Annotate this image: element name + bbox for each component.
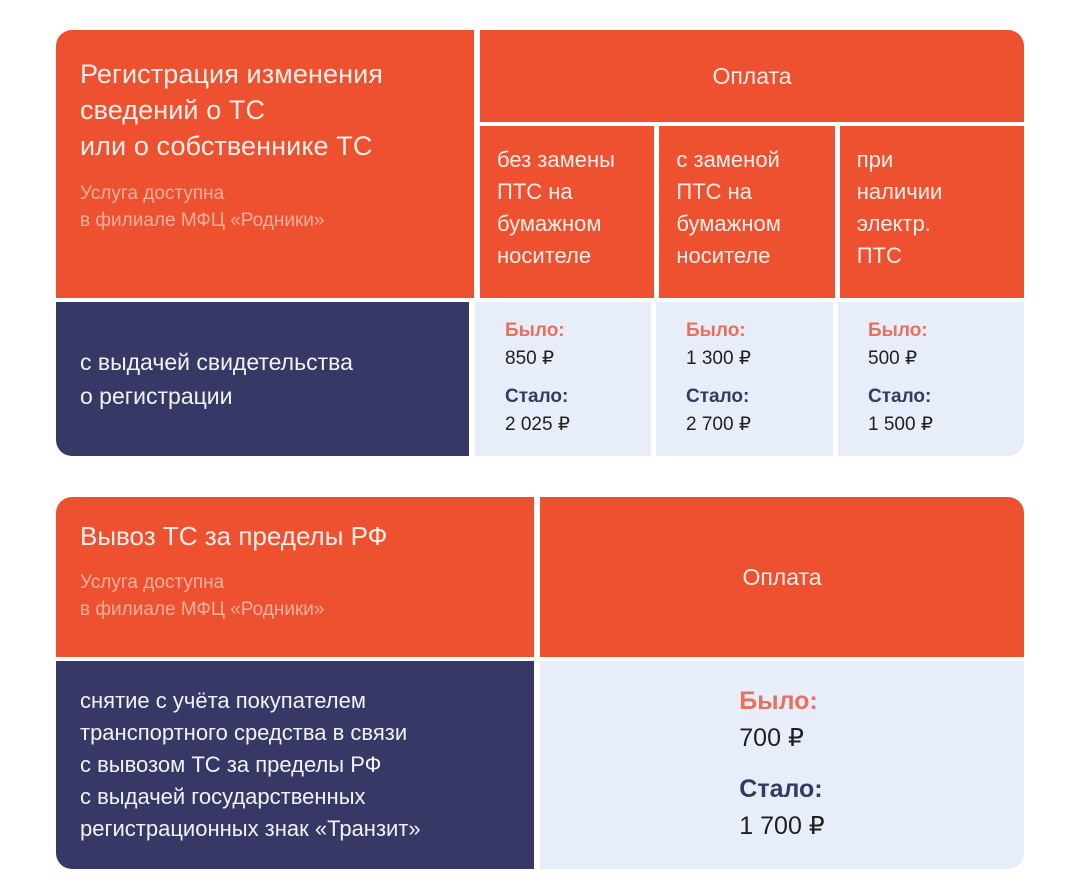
table-two-subtitle: Услуга доступнав филиале МФЦ «Родники» xyxy=(80,569,510,623)
now-label-2: Стало: xyxy=(686,384,833,410)
table-two-payment-group-header: Оплата xyxy=(540,497,1024,657)
table-one-column-headers: без заменыПТС набумажномносителе с замен… xyxy=(480,126,1024,298)
table-one-column-header-2: с заменойПТС набумажномносителе xyxy=(659,126,834,298)
table-two-title: Вывоз ТС за пределы РФ xyxy=(80,519,510,553)
table-one-payment-group-header: Оплата xyxy=(480,30,1024,122)
table-one-title: Регистрация изменениясведений о ТСили о … xyxy=(80,56,450,164)
table-one-row-label: с выдачей свидетельствао регистрации xyxy=(80,345,353,413)
now-value-1: 2 025 ₽ xyxy=(505,410,651,440)
table-row: снятие с учёта покупателемтранспортного … xyxy=(56,661,1024,869)
price-cell-1: Было: 850 ₽ Стало: 2 025 ₽ xyxy=(475,302,651,456)
now-label-1: Стало: xyxy=(505,384,651,410)
table-registration-changes: Регистрация изменениясведений о ТСили о … xyxy=(56,30,1024,456)
table-two-was-value: 700 ₽ xyxy=(739,718,824,758)
price-cell-3: Было: 500 ₽ Стало: 1 500 ₽ xyxy=(838,302,1024,456)
price-cell-2: Было: 1 300 ₽ Стало: 2 700 ₽ xyxy=(656,302,833,456)
table-two-now-label: Стало: xyxy=(739,772,824,806)
table-row: с выдачей свидетельствао регистрации Был… xyxy=(56,302,1024,456)
table-one-column-header-3: приналичииэлектр.ПТС xyxy=(840,126,1024,298)
was-value-2: 1 300 ₽ xyxy=(686,344,833,374)
table-one-payment-group-label: Оплата xyxy=(712,63,791,90)
table-two-payment-group-label: Оплата xyxy=(742,564,821,591)
table-one-title-cell: Регистрация изменениясведений о ТСили о … xyxy=(56,30,474,298)
table-two-price-inner: Было: 700 ₽ Стало: 1 700 ₽ xyxy=(739,684,824,846)
table-two-row-label-cell: снятие с учёта покупателемтранспортного … xyxy=(56,661,534,869)
table-two-title-cell: Вывоз ТС за пределы РФ Услуга доступнав … xyxy=(56,497,534,657)
table-two-now-value: 1 700 ₽ xyxy=(739,806,824,846)
table-one-payment-header-group: Оплата без заменыПТС набумажномносителе … xyxy=(474,30,1024,298)
was-label-3: Было: xyxy=(868,318,1024,344)
table-vehicle-export: Вывоз ТС за пределы РФ Услуга доступнав … xyxy=(56,497,1024,869)
table-one-row-label-cell: с выдачей свидетельствао регистрации xyxy=(56,302,469,456)
was-value-3: 500 ₽ xyxy=(868,344,1024,374)
table-two-price-cell: Было: 700 ₽ Стало: 1 700 ₽ xyxy=(540,661,1024,869)
table-one-column-header-1-text: без заменыПТС набумажномносителе xyxy=(497,144,638,272)
table-two-was-label: Было: xyxy=(739,684,824,718)
table-two-row-label: снятие с учёта покупателемтранспортного … xyxy=(80,685,421,845)
now-label-3: Стало: xyxy=(868,384,1024,410)
now-value-2: 2 700 ₽ xyxy=(686,410,833,440)
was-label-2: Было: xyxy=(686,318,833,344)
was-label-1: Было: xyxy=(505,318,651,344)
table-one-column-header-2-text: с заменойПТС набумажномносителе xyxy=(676,144,818,272)
table-one-subtitle: Услуга доступнав филиале МФЦ «Родники» xyxy=(80,180,450,234)
was-value-1: 850 ₽ xyxy=(505,344,651,374)
table-one-price-cells: Было: 850 ₽ Стало: 2 025 ₽ Было: 1 300 ₽… xyxy=(475,302,1024,456)
now-value-3: 1 500 ₽ xyxy=(868,410,1024,440)
table-one-header-row: Регистрация изменениясведений о ТСили о … xyxy=(56,30,1024,298)
table-two-header-row: Вывоз ТС за пределы РФ Услуга доступнав … xyxy=(56,497,1024,657)
table-one-column-header-1: без заменыПТС набумажномносителе xyxy=(480,126,654,298)
table-one-column-header-3-text: приналичииэлектр.ПТС xyxy=(857,144,1008,272)
